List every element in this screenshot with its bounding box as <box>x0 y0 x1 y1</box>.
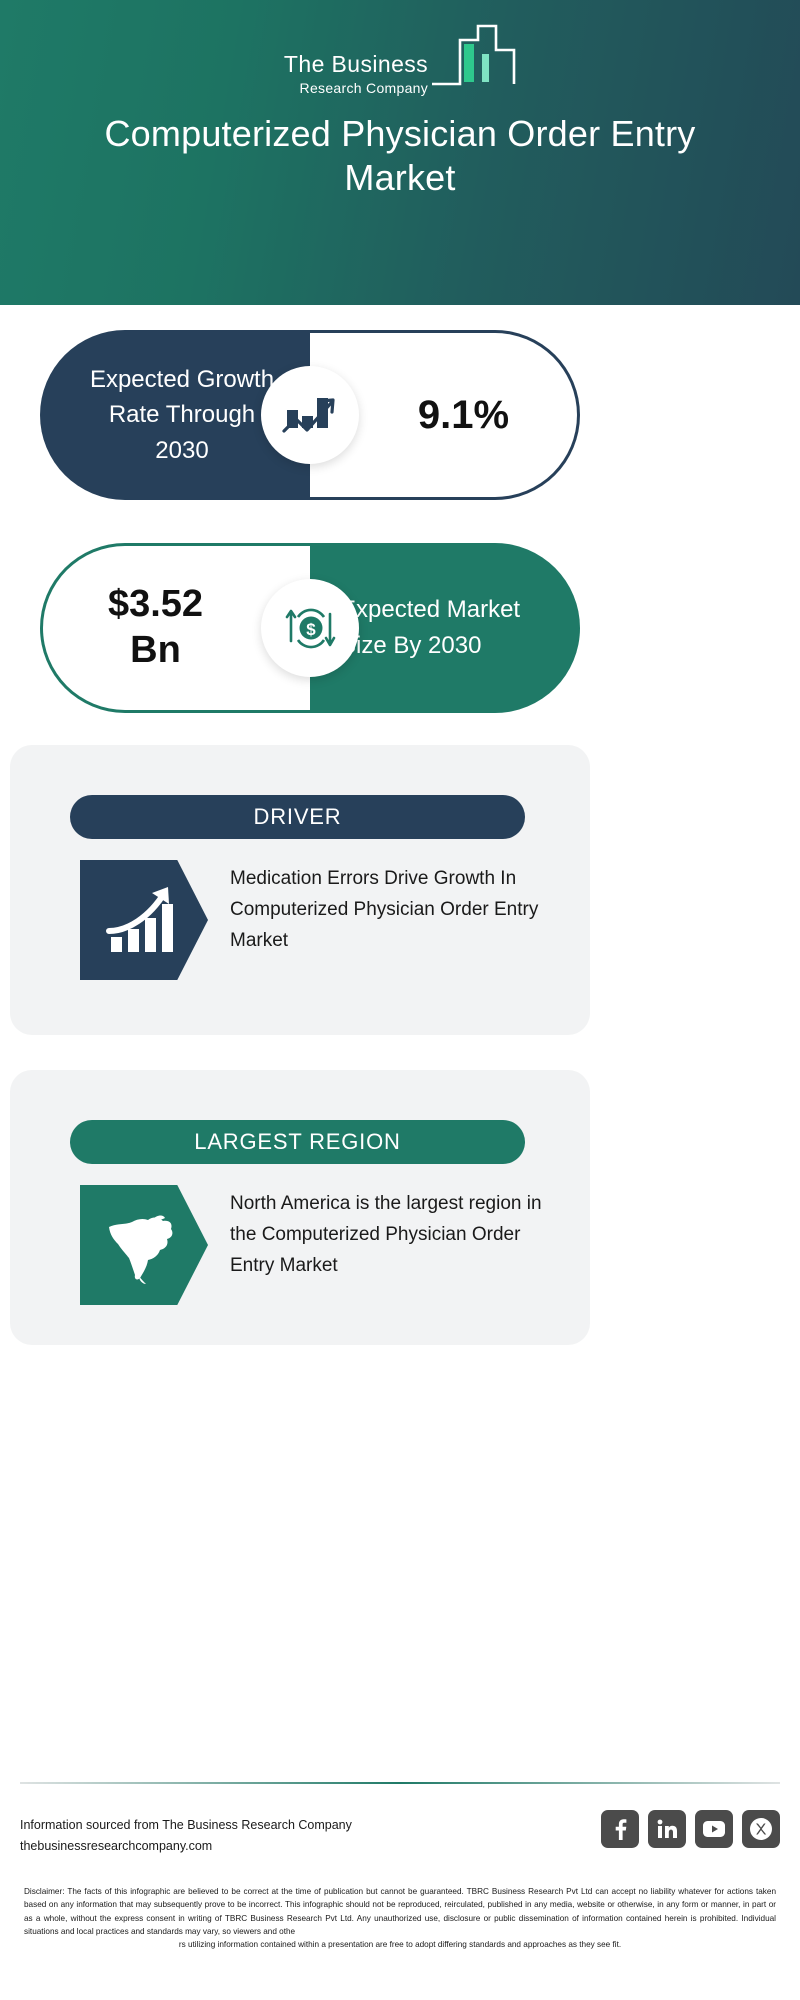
disclaimer-last-line: rs utilizing information contained withi… <box>24 1938 776 1951</box>
largest-region-pill-label: LARGEST REGION <box>70 1120 525 1164</box>
stat-card-market-size: $3.52 Bn Expected Market Size By 2030 $ <box>40 543 580 713</box>
company-logo: The Business Research Company <box>0 22 800 99</box>
linkedin-icon[interactable] <box>648 1810 686 1848</box>
market-size-value-line-2: Bn <box>108 628 203 674</box>
youtube-icon[interactable] <box>695 1810 733 1848</box>
header-banner: The Business Research Company Computeriz… <box>0 0 800 305</box>
market-size-value-line-1: $3.52 <box>108 582 203 628</box>
driver-pill-label: DRIVER <box>70 795 525 839</box>
stat-card-growth-rate: Expected Growth Rate Through 2030 9.1% <box>40 330 580 500</box>
dollar-cycle-icon: $ <box>261 579 359 677</box>
bar-chart-growth-icon <box>261 366 359 464</box>
infographic-page: The Business Research Company Computeriz… <box>0 0 800 2000</box>
footer-source: Information sourced from The Business Re… <box>20 1815 352 1856</box>
panel-driver: DRIVER Medication Errors Drive Growth In… <box>10 745 590 1035</box>
x-twitter-icon[interactable] <box>742 1810 780 1848</box>
footer-source-line-2[interactable]: thebusinessresearchcompany.com <box>20 1836 352 1857</box>
social-links <box>601 1810 780 1848</box>
svg-text:$: $ <box>306 620 316 639</box>
driver-body: Medication Errors Drive Growth In Comput… <box>80 860 560 980</box>
disclaimer-text: Disclaimer: The facts of this infographi… <box>24 1885 776 1951</box>
footer-divider <box>20 1782 780 1784</box>
disclaimer-main: Disclaimer: The facts of this infographi… <box>24 1887 776 1936</box>
logo-line-2: Research Company <box>300 81 429 95</box>
growth-chart-arrow-icon <box>80 860 208 980</box>
logo-line-1: The Business <box>284 53 428 76</box>
largest-region-body: North America is the largest region in t… <box>80 1185 560 1305</box>
panel-largest-region: LARGEST REGION North America is the larg… <box>10 1070 590 1345</box>
logo-bar-chart-icon <box>430 22 516 99</box>
page-title: Computerized Physician Order Entry Marke… <box>0 112 800 200</box>
driver-text: Medication Errors Drive Growth In Comput… <box>230 860 560 956</box>
facebook-icon[interactable] <box>601 1810 639 1848</box>
footer-source-line-1: Information sourced from The Business Re… <box>20 1815 352 1836</box>
largest-region-text: North America is the largest region in t… <box>230 1185 560 1281</box>
north-america-map-icon <box>80 1185 208 1305</box>
logo-wordmark: The Business Research Company <box>284 53 428 99</box>
